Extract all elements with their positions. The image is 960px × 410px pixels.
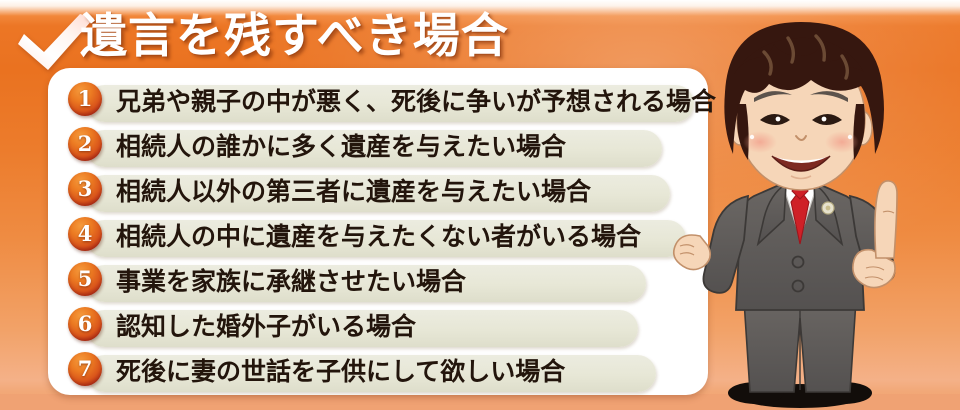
- list-item[interactable]: 7 死後に妻の世話を子供にして欲しい場合: [68, 352, 694, 397]
- reasons-list: 1 兄弟や親子の中が悪く、死後に争いが予想される場合 2 相続人の誰かに多く遺産…: [68, 82, 694, 387]
- page-title: 遺言を残すべき場合: [80, 8, 509, 66]
- list-item-number: 4: [68, 217, 102, 251]
- list-item-number: 2: [68, 127, 102, 161]
- list-item[interactable]: 5 事業を家族に承継させたい場合: [68, 262, 694, 307]
- list-item-label: 認知した婚外子がいる場合: [116, 307, 416, 347]
- list-item-label: 相続人の中に遺産を与えたくない者がいる場合: [116, 217, 641, 257]
- list-item-label: 兄弟や親子の中が悪く、死後に争いが予想される場合: [116, 82, 716, 122]
- lawyer-character-illustration: [636, 0, 960, 410]
- list-item-number: 3: [68, 172, 102, 206]
- banner-root: 遺言を残すべき場合 1 兄弟や親子の中が悪く、死後に争いが予想される場合 2 相…: [0, 0, 960, 410]
- list-item-number: 6: [68, 307, 102, 341]
- list-item[interactable]: 1 兄弟や親子の中が悪く、死後に争いが予想される場合: [68, 82, 694, 127]
- list-item-number: 7: [68, 352, 102, 386]
- list-item-number: 5: [68, 262, 102, 296]
- list-item-label: 相続人の誰かに多く遺産を与えたい場合: [116, 127, 566, 167]
- list-item-label: 相続人以外の第三者に遺産を与えたい場合: [116, 172, 591, 212]
- list-item-label: 死後に妻の世話を子供にして欲しい場合: [116, 352, 565, 392]
- list-item[interactable]: 4 相続人の中に遺産を与えたくない者がいる場合: [68, 217, 694, 262]
- list-item[interactable]: 6 認知した婚外子がいる場合: [68, 307, 694, 352]
- list-item[interactable]: 2 相続人の誰かに多く遺産を与えたい場合: [68, 127, 694, 172]
- list-item-number: 1: [68, 82, 102, 116]
- list-item-label: 事業を家族に承継させたい場合: [116, 262, 466, 302]
- list-item[interactable]: 3 相続人以外の第三者に遺産を与えたい場合: [68, 172, 694, 217]
